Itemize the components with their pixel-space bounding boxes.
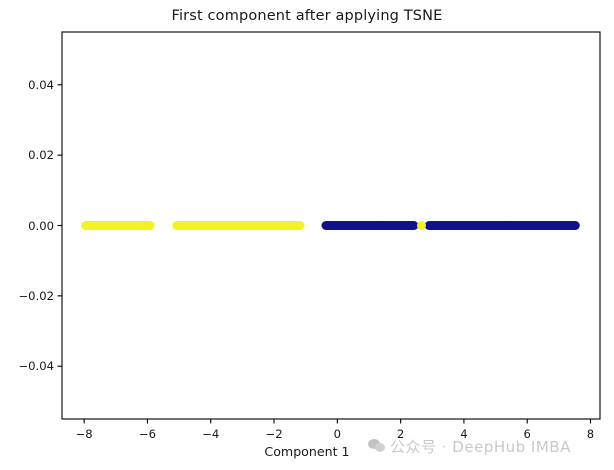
x-tick-label: 2 (397, 427, 404, 441)
figure-canvas: First component after applying TSNE Comp… (0, 0, 614, 470)
x-axis-label: Component 1 (0, 444, 614, 459)
x-tick-label: −4 (202, 427, 219, 441)
data-points-layer (81, 221, 580, 230)
y-tick-label: −0.04 (0, 359, 54, 373)
data-point (417, 221, 426, 230)
y-tick-label: 0.04 (0, 78, 54, 92)
page-title: First component after applying TSNE (0, 8, 614, 24)
y-tick-label: 0.02 (0, 148, 54, 162)
scatter-plot (0, 0, 614, 470)
x-tick-label: 6 (524, 427, 531, 441)
x-tick-label: 0 (334, 427, 341, 441)
x-tick-label: −2 (265, 427, 282, 441)
x-tick-label: 4 (460, 427, 467, 441)
x-tick-label: 8 (587, 427, 594, 441)
x-tick-label: −6 (139, 427, 156, 441)
data-point (145, 221, 154, 230)
y-tick-label: 0.00 (0, 219, 54, 233)
x-tick-label: −8 (76, 427, 93, 441)
data-point (571, 221, 580, 230)
y-tick-label: −0.02 (0, 289, 54, 303)
data-point (295, 221, 304, 230)
tick-marks (58, 85, 591, 424)
